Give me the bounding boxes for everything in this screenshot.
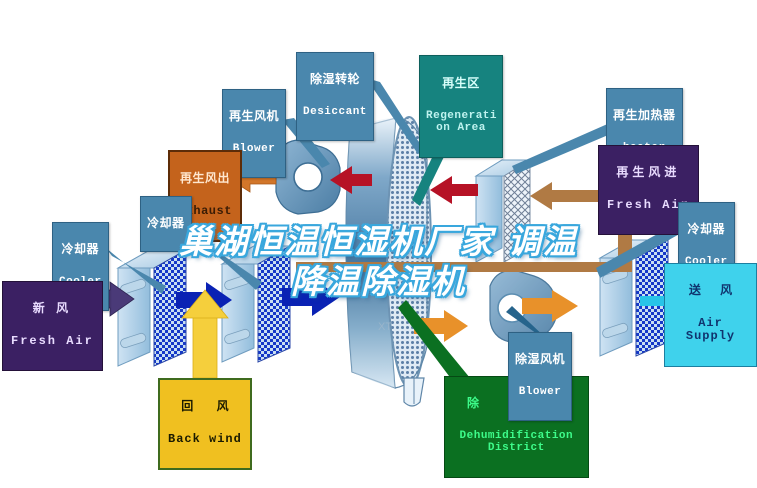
label-exhaust-cn: 再生风出 xyxy=(178,172,232,186)
regen-hot-arrow-into-wheel xyxy=(430,176,478,204)
label-dehumidification-blower-en: Blower xyxy=(515,386,565,399)
label-regeneration-fresh-air-cn: 再生风进 xyxy=(607,166,690,180)
label-air-supply-cn: 送 风 xyxy=(671,284,750,298)
label-regeneration-heater-cn: 再生加热器 xyxy=(613,109,676,123)
label-fresh-air-inlet: 新 风 Fresh Air xyxy=(2,281,103,371)
regeneration-heater-coil xyxy=(476,160,530,262)
cooler-coil-1 xyxy=(118,250,186,366)
diagram-canvas: XT xyxy=(0,0,757,488)
label-dehumidification-blower-cn: 除湿风机 xyxy=(515,353,565,367)
condensate-drain xyxy=(404,378,424,406)
label-desiccant-wheel-cn: 除湿转轮 xyxy=(303,73,367,87)
label-dehumidification-district-en: Dehumidification District xyxy=(453,430,580,455)
label-cooler-right-cn: 冷却器 xyxy=(685,223,728,237)
label-regeneration-area-en: Regenerati on Area xyxy=(426,110,496,135)
label-back-wind-cn: 回 风 xyxy=(168,400,242,414)
label-regeneration-area-cn: 再生区 xyxy=(426,77,496,91)
dehumidifier-schematic-artwork: XT xyxy=(0,0,757,488)
label-air-supply: 送 风 Air Supply xyxy=(664,263,757,367)
process-arrow-2 xyxy=(282,278,340,316)
label-back-wind-en: Back wind xyxy=(168,433,242,447)
label-back-wind: 回 风 Back wind xyxy=(158,378,252,470)
label-desiccant-wheel: 除湿转轮 Desiccant xyxy=(296,52,374,141)
label-regeneration-blower-cn: 再生风机 xyxy=(229,110,279,124)
label-desiccant-wheel-en: Desiccant xyxy=(303,106,367,119)
svg-text:XT: XT xyxy=(378,321,392,333)
label-fresh-air-inlet-en: Fresh Air xyxy=(11,335,94,349)
label-dehumidification-blower: 除湿风机 Blower xyxy=(508,332,572,421)
label-cooler-left-upper-cn: 冷却器 xyxy=(59,243,102,257)
label-air-supply-en: Air Supply xyxy=(671,317,750,345)
label-cooler-left-lower: 冷却器 xyxy=(140,196,192,252)
label-fresh-air-inlet-cn: 新 风 xyxy=(11,302,94,316)
label-regeneration-area: 再生区 Regenerati on Area xyxy=(419,55,503,158)
label-cooler-left-lower-cn: 冷却器 xyxy=(147,217,185,231)
